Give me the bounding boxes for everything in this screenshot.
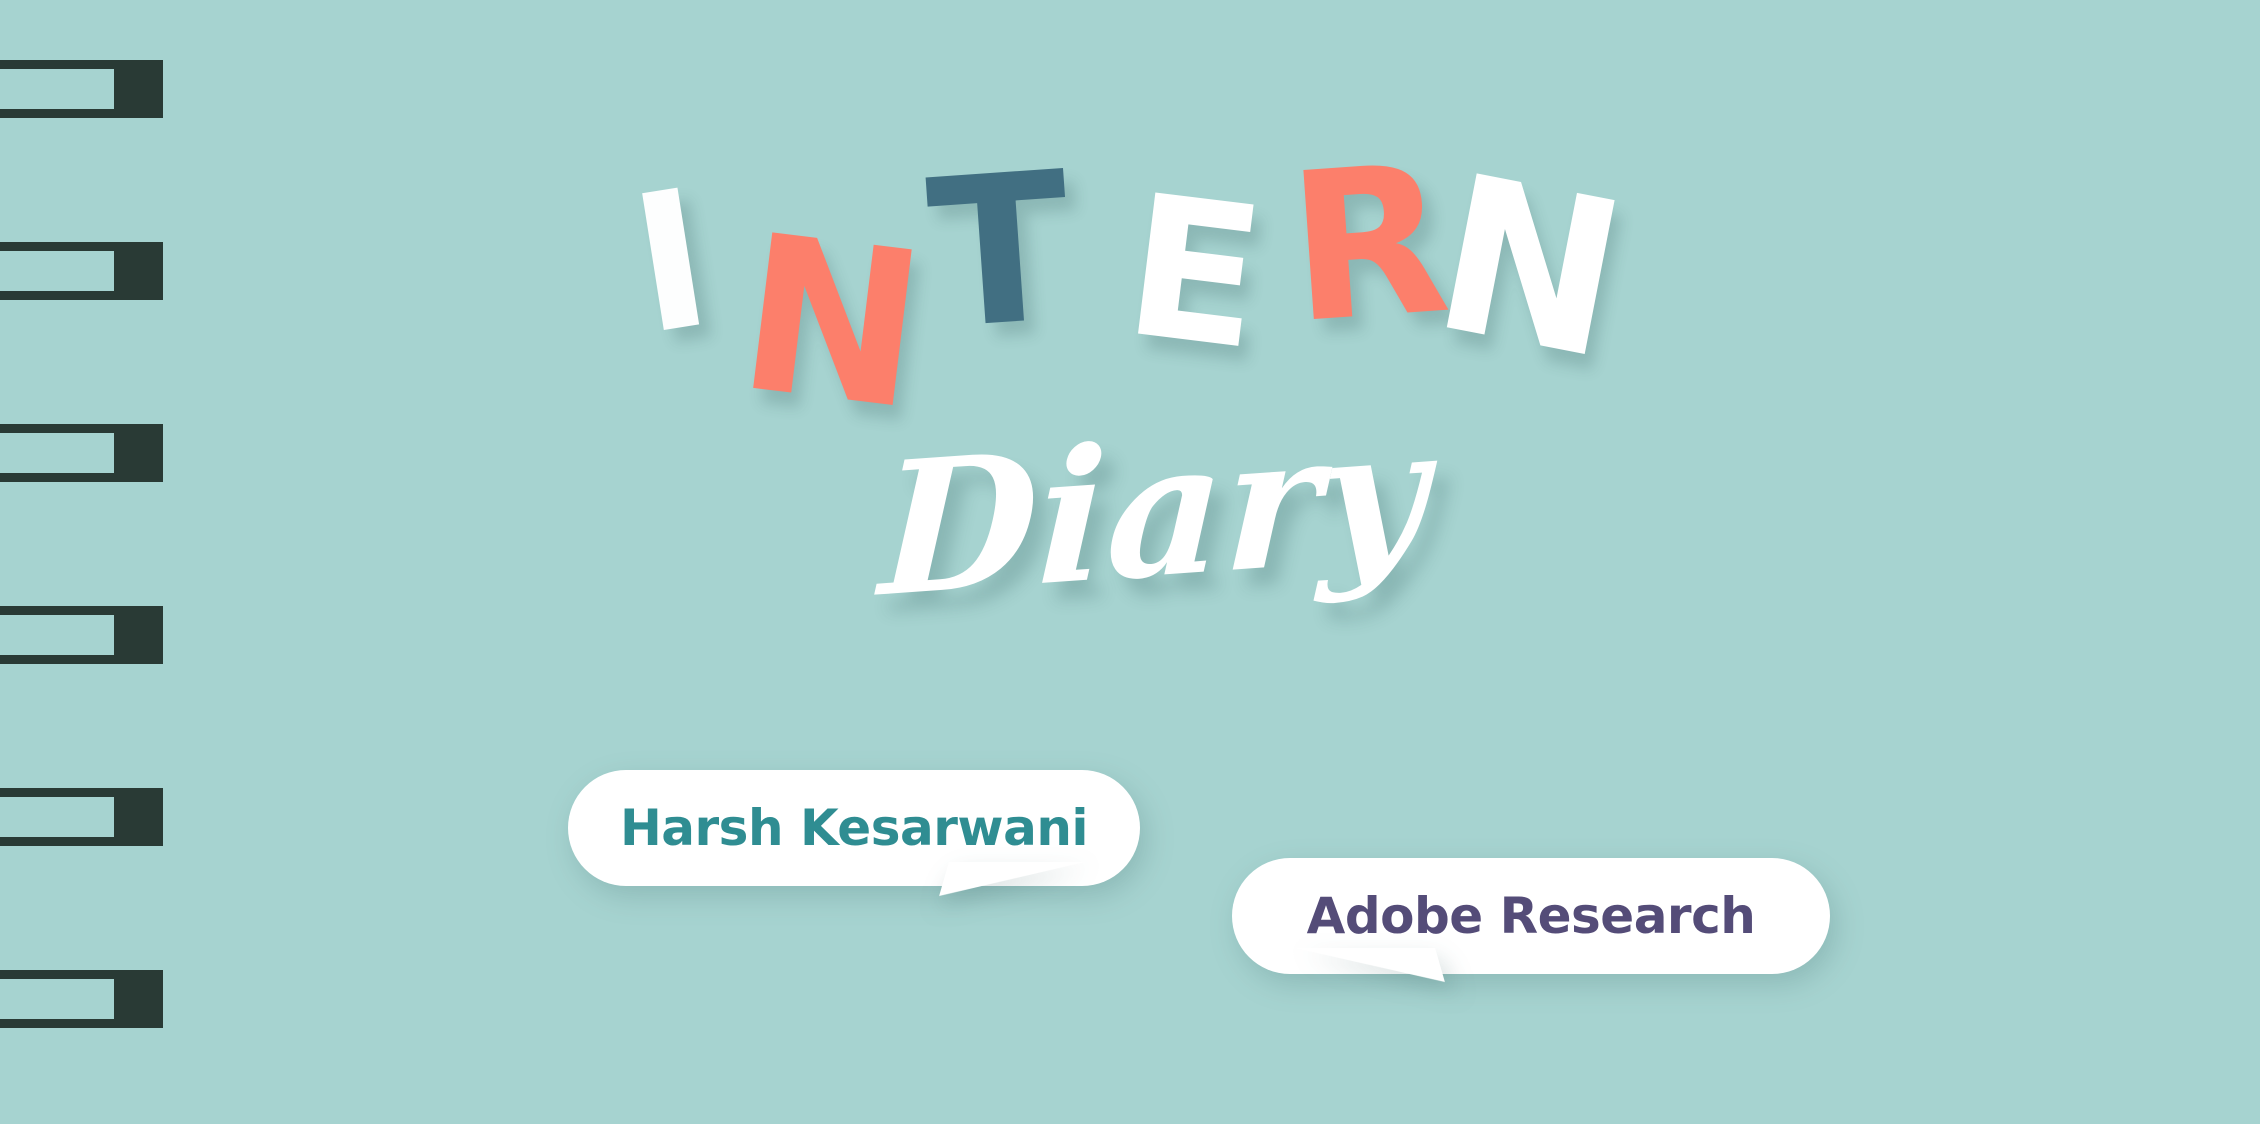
binding-ring-icon bbox=[0, 606, 163, 664]
binding-ring-icon bbox=[0, 788, 163, 846]
slide-canvas: I N T E R N Diary Harsh Kesarwani Adobe … bbox=[0, 0, 2260, 1124]
title-script-diary: Diary bbox=[877, 400, 1429, 621]
binding-ring-hole bbox=[0, 615, 114, 655]
binding-ring-icon bbox=[0, 970, 163, 1028]
author-name-label: Harsh Kesarwani bbox=[620, 799, 1088, 857]
binding-ring-hole bbox=[0, 797, 114, 837]
title-letter-n2: N bbox=[1421, 145, 1639, 390]
title-letter-t: T bbox=[923, 145, 1077, 359]
organization-label: Adobe Research bbox=[1307, 887, 1756, 945]
speech-bubble-tail-organization bbox=[1295, 948, 1445, 982]
title-letter-e: E bbox=[1117, 168, 1273, 378]
title-letter-n1: N bbox=[730, 205, 935, 440]
binding-ring-hole bbox=[0, 979, 114, 1019]
title-letter-i: I bbox=[622, 164, 722, 363]
speech-bubble-tail-author bbox=[939, 862, 1085, 896]
